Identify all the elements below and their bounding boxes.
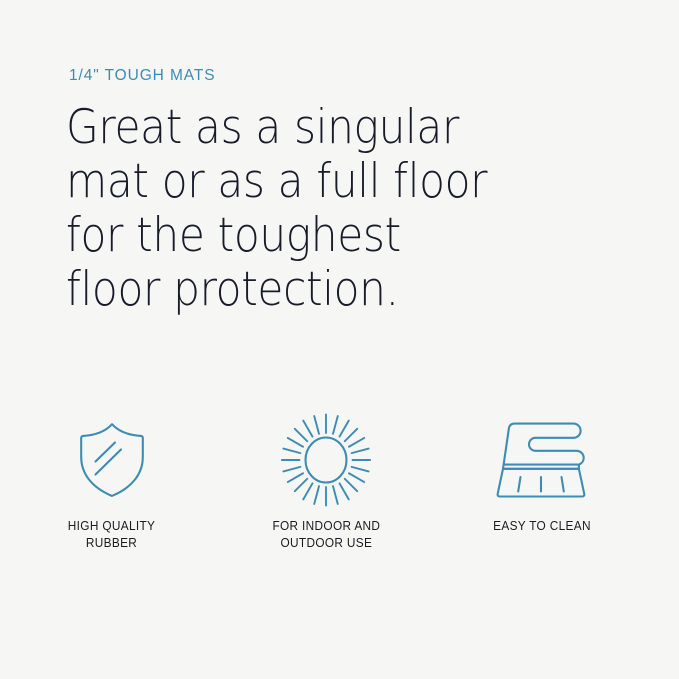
feature-item-high-quality-rubber: HIGH QUALITY RUBBER — [0, 410, 224, 552]
sun-icon — [278, 410, 374, 510]
headline-line-1: Great as a singular — [66, 101, 489, 155]
feature-label-line-1: FOR INDOOR AND — [272, 518, 380, 535]
feature-label-line-1: HIGH QUALITY — [68, 518, 155, 535]
feature-label-line-2: RUBBER — [68, 535, 155, 552]
feature-label-easy-to-clean: EASY TO CLEAN — [493, 518, 591, 535]
promo-panel: 1/4" TOUGH MATS Great as a singular mat … — [0, 0, 679, 679]
shield-icon — [77, 410, 147, 510]
feature-list: HIGH QUALITY RUBBER FOR INDOOR AND OUTDO… — [0, 410, 679, 552]
feature-label-line-2: OUTDOOR USE — [272, 535, 380, 552]
scrub-brush-icon — [495, 410, 589, 510]
headline-line-2: mat or as a full floor — [66, 155, 489, 209]
headline-line-4: floor protection. — [66, 263, 489, 317]
headline-line-3: for the toughest — [66, 209, 489, 263]
feature-label-line-1: EASY TO CLEAN — [493, 518, 591, 535]
eyebrow-label: 1/4" TOUGH MATS — [69, 67, 215, 85]
feature-item-indoor-outdoor: FOR INDOOR AND OUTDOOR USE — [224, 410, 428, 552]
feature-label-high-quality-rubber: HIGH QUALITY RUBBER — [68, 518, 155, 552]
page-title: Great as a singular mat or as a full flo… — [66, 101, 489, 317]
feature-item-easy-to-clean: EASY TO CLEAN — [428, 410, 656, 535]
feature-label-indoor-outdoor: FOR INDOOR AND OUTDOOR USE — [272, 518, 380, 552]
